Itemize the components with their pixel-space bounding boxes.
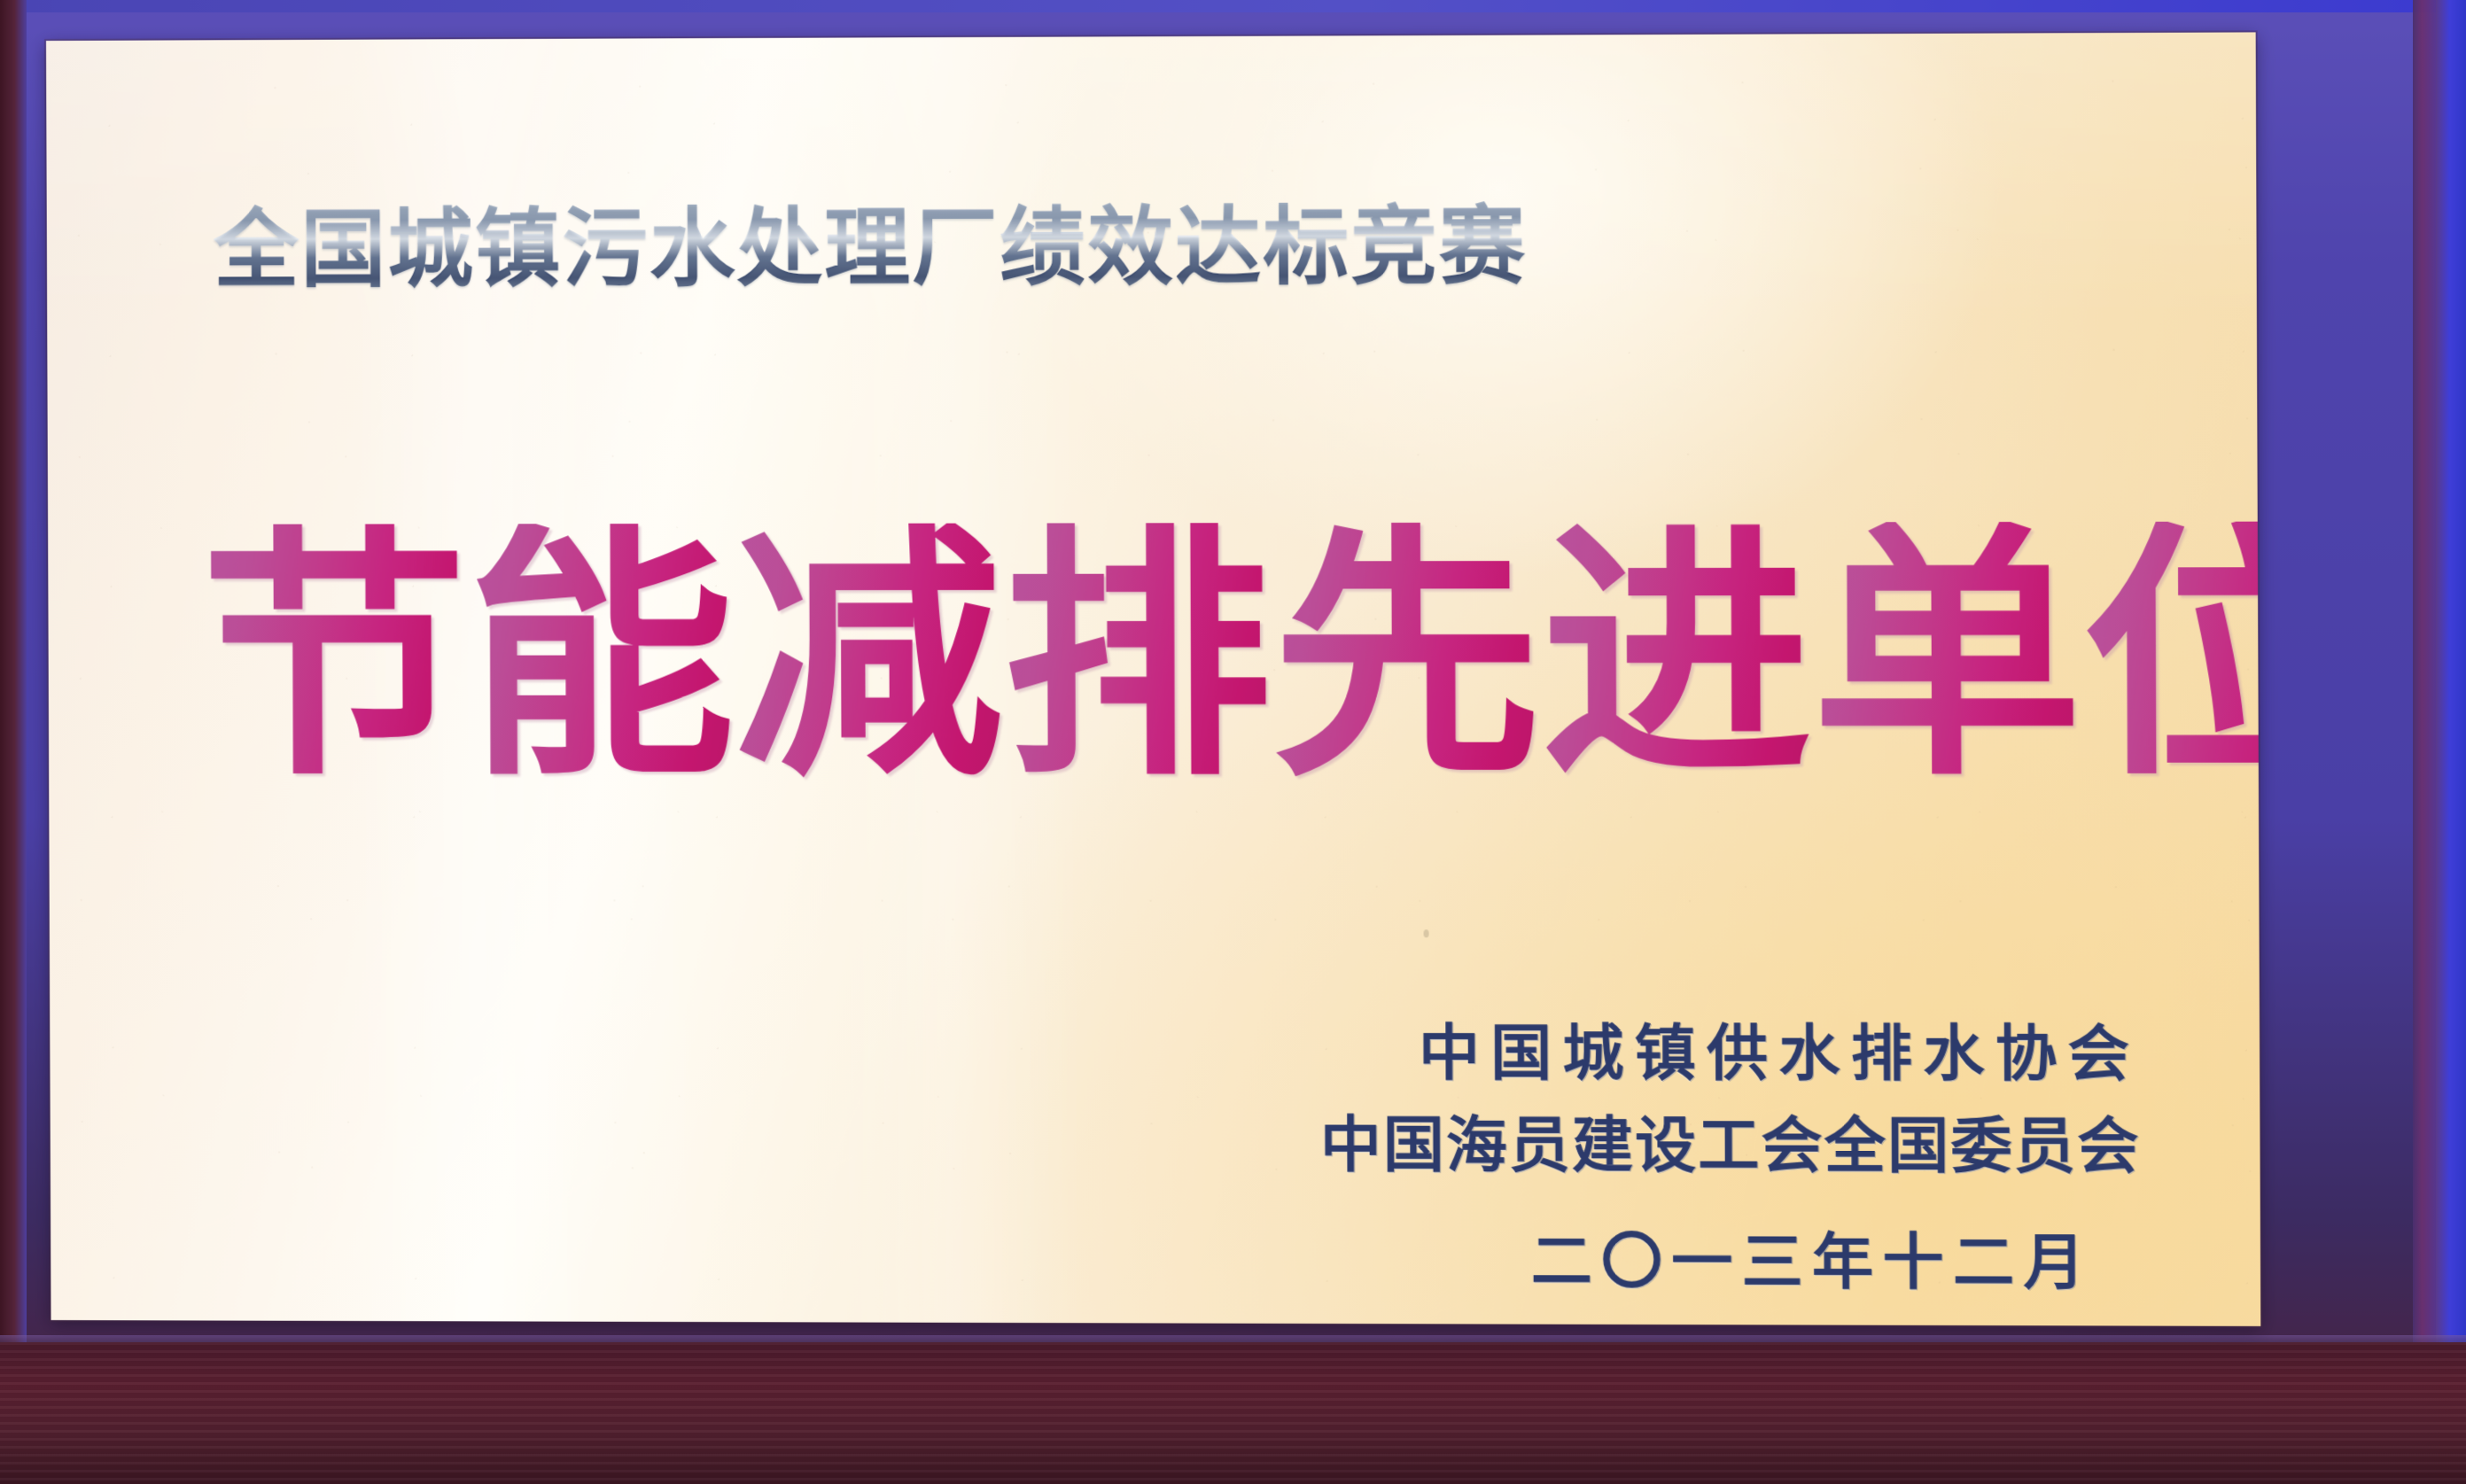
- issuer-organization-secondary: 中国海员建设工会全国委员会: [1320, 1100, 2144, 1194]
- plaque-face: 全国城镇污水处理厂绩效达标竞赛 节 能 减 排 先 进 单 位 中国城镇供水排水…: [46, 32, 2260, 1325]
- award-title-char: 能: [467, 524, 735, 790]
- award-title: 节 能 减 排 先 进 单 位: [200, 522, 2260, 790]
- signature-block: 中国城镇供水排水协会 中国海员建设工会全国委员会 二〇一三年十二月: [1319, 1008, 2144, 1310]
- award-title-char: 单: [1811, 522, 2083, 790]
- issuer-organization-primary: 中国城镇供水排水协会: [1319, 1008, 2143, 1102]
- award-title-char: 排: [1002, 523, 1272, 790]
- frame-top-rim: [0, 0, 2466, 12]
- issue-date: 二〇一三年十二月: [1320, 1216, 2144, 1310]
- award-title-char: 减: [735, 524, 1004, 790]
- award-plaque: 全国城镇污水处理厂绩效达标竞赛 节 能 减 排 先 进 单 位 中国城镇供水排水…: [0, 0, 2466, 1484]
- frame-right-outer-rim: [2436, 0, 2466, 1484]
- award-title-char: 节: [200, 524, 468, 790]
- award-title-char: 进: [1541, 522, 1812, 790]
- surface-speck: [1424, 929, 1429, 937]
- award-title-char: 先: [1272, 523, 1542, 790]
- frame-bottom-wood: [0, 1342, 2466, 1484]
- competition-header: 全国城镇污水处理厂绩效达标竞赛: [214, 194, 1528, 302]
- award-title-char: 位: [2082, 522, 2261, 791]
- frame-right-inner-rim: [2413, 0, 2436, 1484]
- frame-left-edge: [0, 0, 27, 1484]
